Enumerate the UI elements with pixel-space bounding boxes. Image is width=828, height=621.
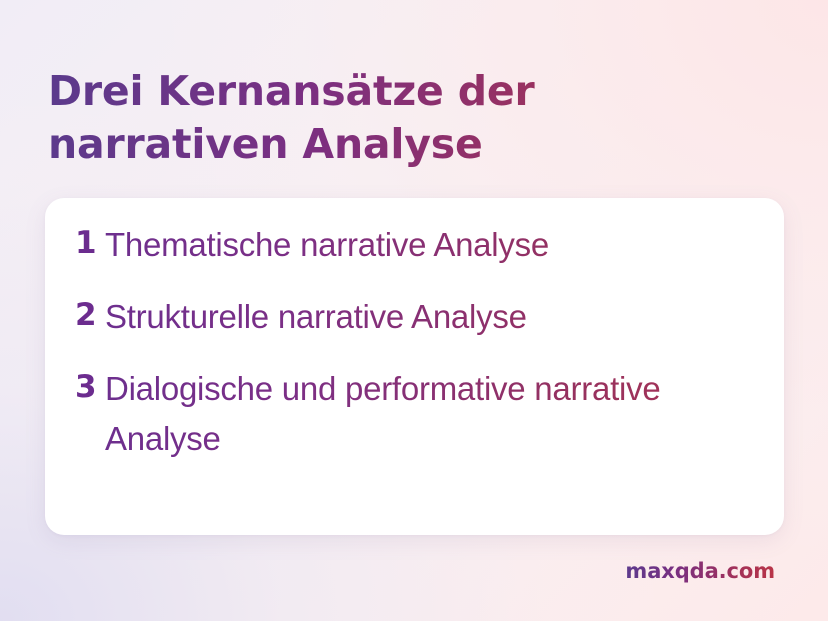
key-approaches-card: 1 Thematische narrative Analyse 2 Strukt…: [45, 198, 784, 535]
list-item: 3 Dialogische und performative narrative…: [75, 364, 754, 464]
list-item-label: Thematische narrative Analyse: [105, 220, 754, 270]
list-item-number: 2: [75, 292, 105, 339]
numbered-list: 1 Thematische narrative Analyse 2 Strukt…: [75, 220, 754, 465]
list-item-label: Dialogische und performative narrative A…: [105, 364, 754, 464]
list-item: 2 Strukturelle narrative Analyse: [75, 292, 754, 342]
brand-footer: maxqda.com: [625, 559, 775, 583]
slide-canvas: Drei Kernansätze der narrativen Analyse …: [0, 0, 828, 621]
list-item: 1 Thematische narrative Analyse: [75, 220, 754, 270]
list-item-number: 3: [75, 364, 105, 411]
list-item-label: Strukturelle narrative Analyse: [105, 292, 754, 342]
page-title: Drei Kernansätze der narrativen Analyse: [48, 65, 688, 170]
list-item-number: 1: [75, 220, 105, 267]
